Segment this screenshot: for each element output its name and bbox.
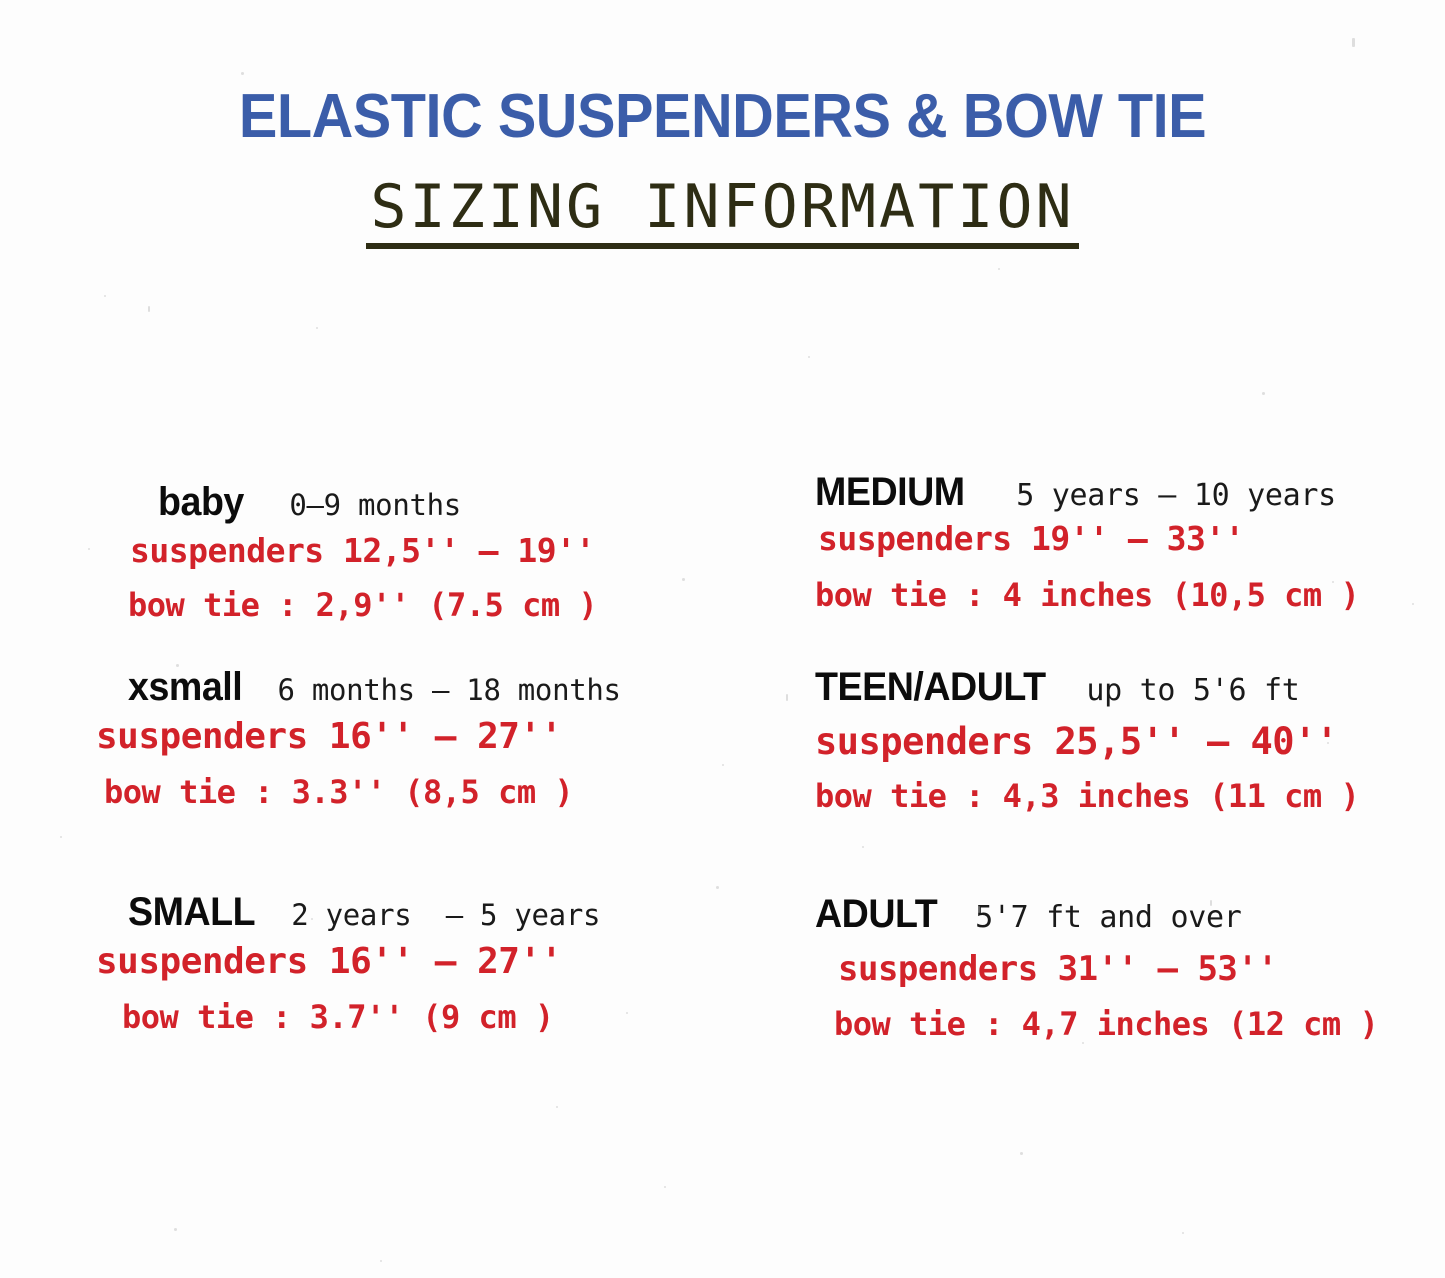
size-suspenders-measure: suspenders 16'' – 27'' (60, 941, 760, 982)
size-label: baby (158, 480, 244, 525)
size-bowtie-measure: bow tie : 4 inches (10,5 cm ) (760, 576, 1445, 614)
size-label: SMALL (128, 890, 255, 935)
size-entry-heading: SMALL 2 years – 5 years (60, 890, 760, 935)
page-title: ELASTIC SUSPENDERS & BOW TIE (51, 86, 1395, 148)
size-entry-medium: MEDIUM 5 years – 10 years suspenders 19'… (760, 470, 1445, 614)
size-entry-heading: MEDIUM 5 years – 10 years (760, 470, 1445, 515)
size-entry-teen-adult: TEEN/ADULT up to 5'6 ft suspenders 25,5'… (760, 665, 1445, 815)
header-block: ELASTIC SUSPENDERS & BOW TIE SIZING INFO… (0, 86, 1445, 249)
size-age-range: 6 months – 18 months (278, 673, 621, 707)
size-label: xsmall (128, 665, 242, 710)
size-suspenders-measure: suspenders 25,5'' – 40'' (760, 720, 1445, 763)
size-bowtie-measure: bow tie : 4,7 inches (12 cm ) (760, 1005, 1445, 1043)
page-subtitle: SIZING INFORMATION (366, 176, 1078, 249)
size-age-range: 2 years – 5 years (291, 898, 600, 932)
size-label: MEDIUM (815, 470, 965, 515)
size-entry-heading: TEEN/ADULT up to 5'6 ft (760, 665, 1445, 710)
sizing-table: baby 0–9 months suspenders 12,5'' – 19''… (0, 480, 1445, 1100)
size-suspenders-measure: suspenders 31'' – 53'' (760, 949, 1445, 989)
size-age-range: 5 years – 10 years (1016, 478, 1336, 513)
subtitle-wrapper: SIZING INFORMATION (0, 176, 1445, 249)
size-age-range: 0–9 months (289, 488, 461, 522)
size-entry-adult: ADULT 5'7 ft and over suspenders 31'' – … (760, 892, 1445, 1043)
size-entry-small: SMALL 2 years – 5 years suspenders 16'' … (60, 890, 760, 1036)
size-bowtie-measure: bow tie : 2,9'' (7.5 cm ) (60, 586, 760, 624)
size-suspenders-measure: suspenders 19'' – 33'' (760, 519, 1445, 558)
size-entry-heading: ADULT 5'7 ft and over (760, 892, 1445, 937)
size-suspenders-measure: suspenders 12,5'' – 19'' (60, 531, 760, 570)
size-entry-heading: baby 0–9 months (60, 480, 760, 525)
size-entry-heading: xsmall 6 months – 18 months (60, 665, 760, 710)
size-bowtie-measure: bow tie : 4,3 inches (11 cm ) (760, 777, 1445, 815)
size-suspenders-measure: suspenders 16'' – 27'' (60, 716, 760, 757)
size-label: ADULT (815, 892, 937, 937)
size-label: TEEN/ADULT (815, 665, 1046, 710)
size-entry-baby: baby 0–9 months suspenders 12,5'' – 19''… (60, 480, 760, 624)
size-bowtie-measure: bow tie : 3.3'' (8,5 cm ) (60, 773, 760, 811)
size-bowtie-measure: bow tie : 3.7'' (9 cm ) (60, 998, 760, 1036)
size-entry-xsmall: xsmall 6 months – 18 months suspenders 1… (60, 665, 760, 811)
size-age-range: 5'7 ft and over (975, 900, 1241, 935)
size-age-range: up to 5'6 ft (1086, 673, 1299, 708)
